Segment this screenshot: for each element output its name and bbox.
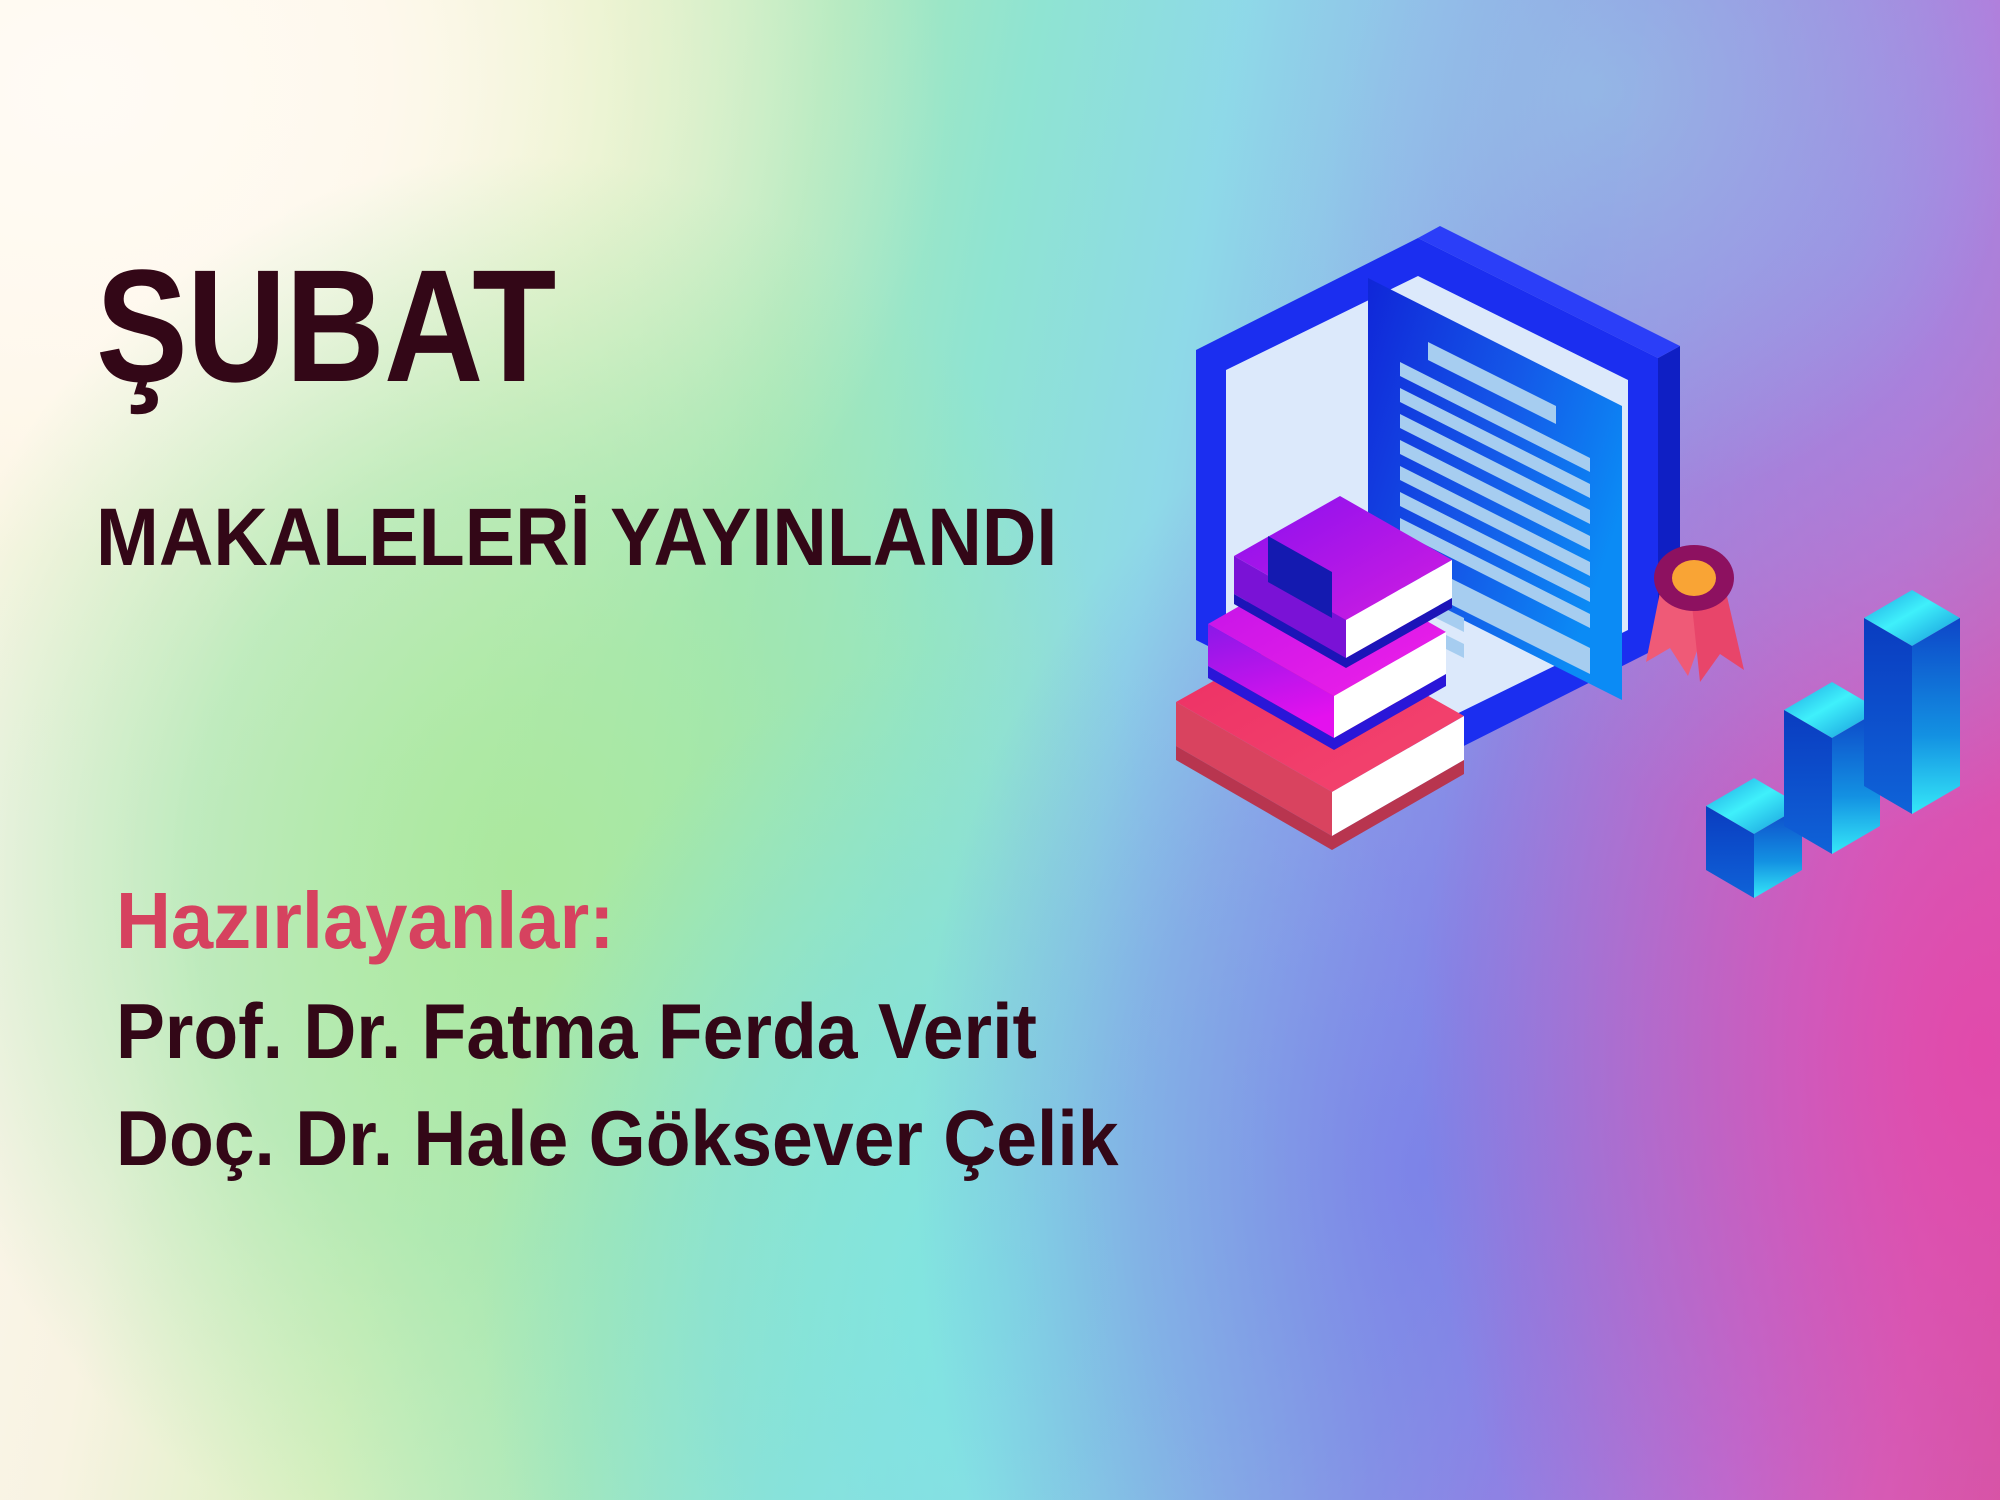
award-seal-icon [1646,545,1744,682]
credit-name-1: Prof. Dr. Fatma Ferda Verit [116,984,1206,1079]
slide-canvas: ŞUBAT MAKALELERİ YAYINLANDI Hazırlayanla… [0,0,2000,1500]
bar-chart-illustration [1706,590,1960,898]
credits-label: Hazırlayanlar: [116,880,1218,962]
credit-name-2: Doç. Dr. Hale Göksever Çelik [116,1091,1206,1186]
page-subtitle: MAKALELERİ YAYINLANDI [96,497,1057,579]
bar-chart-bar-3 [1864,590,1960,814]
illustration-isometric-scene [1160,230,2000,910]
page-title-month: ŞUBAT [96,252,555,399]
credits-block: Hazırlayanlar: Prof. Dr. Fatma Ferda Ver… [116,880,1276,1198]
text-column: ŞUBAT MAKALELERİ YAYINLANDI Hazırlayanla… [96,0,1276,1500]
